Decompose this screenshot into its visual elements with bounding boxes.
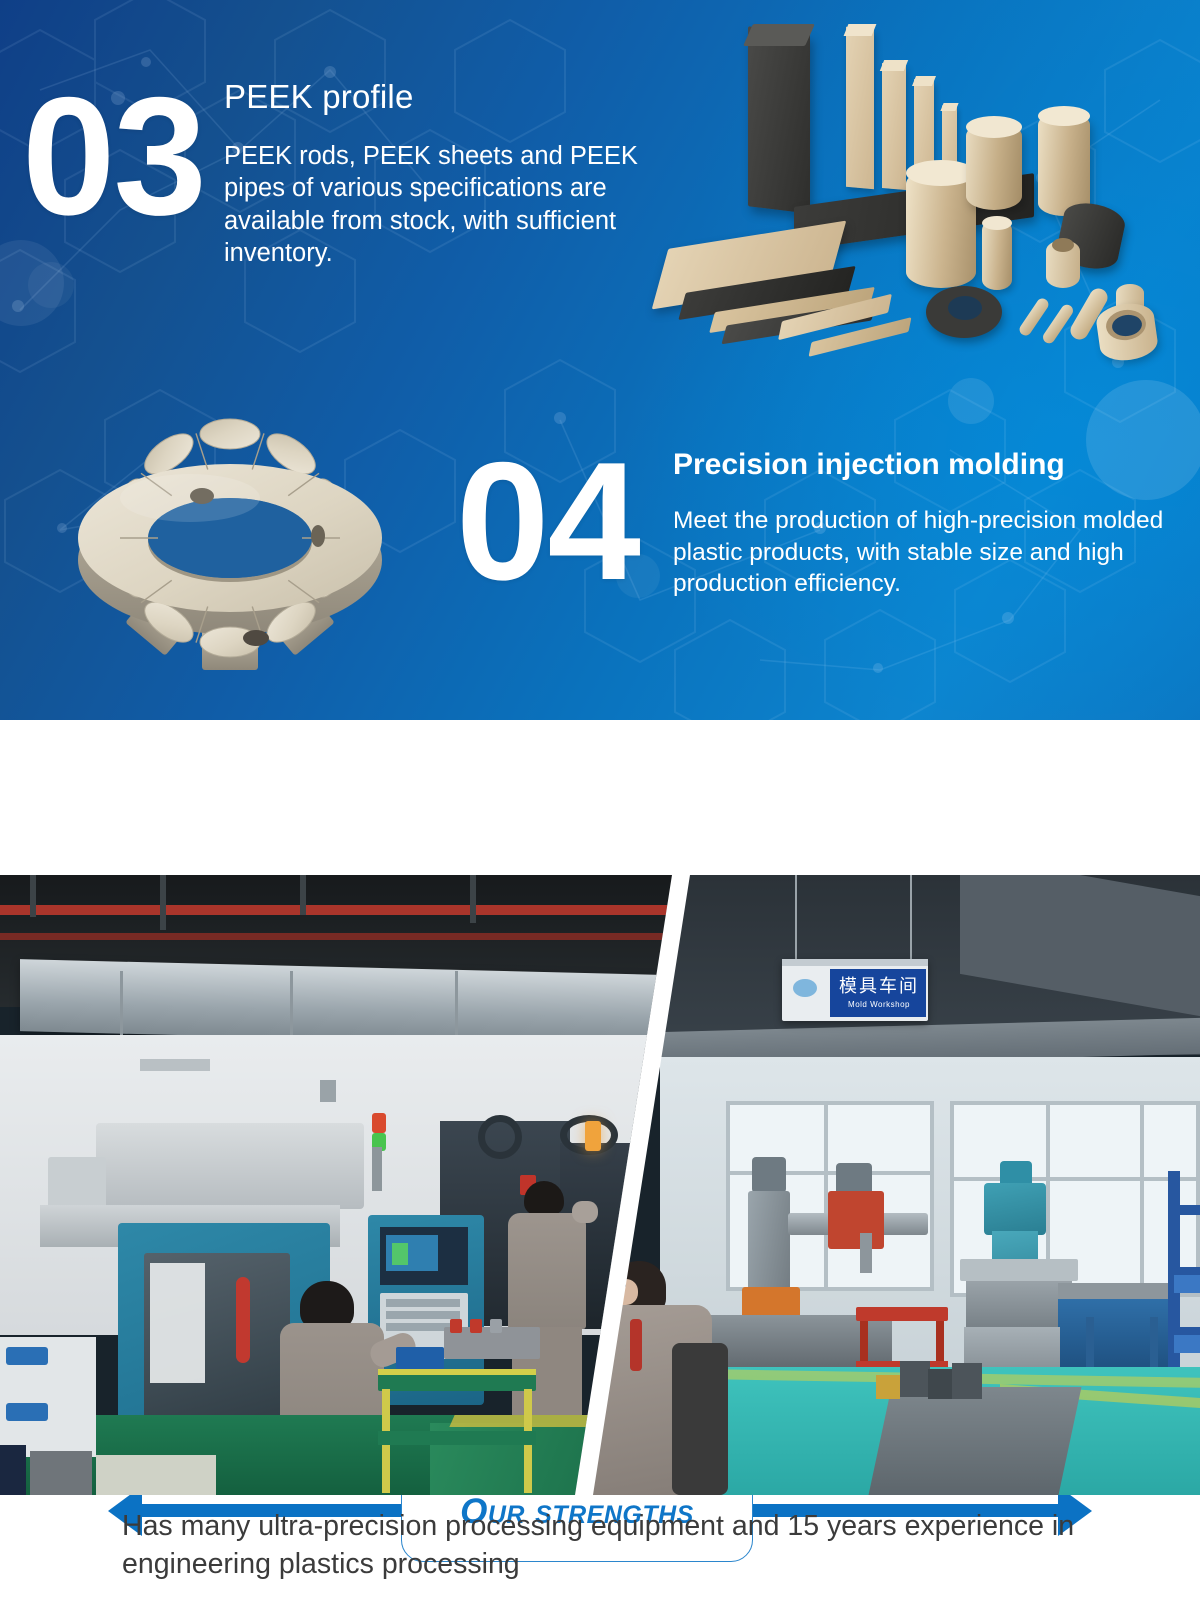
- block-number-03: 03: [22, 72, 205, 240]
- block-number-04: 04: [456, 437, 639, 605]
- block-title-03: PEEK profile: [224, 78, 414, 116]
- block-title-04: Precision injection molding: [673, 448, 1065, 482]
- block-body-04: Meet the production of high-precision mo…: [673, 505, 1200, 600]
- photo-divider: [0, 875, 1200, 1495]
- peek-gear-ring-photo: [28, 398, 432, 690]
- strengths-banner: Our strengths: [0, 720, 1200, 875]
- block-body-03: PEEK rods, PEEK sheets and PEEK pipes of…: [224, 140, 656, 270]
- decorative-blob: [28, 262, 74, 308]
- page-caption: Has many ultra-precision processing equi…: [122, 1507, 1122, 1584]
- peek-stock-shapes-photo: [660, 8, 1200, 368]
- hero-panel: 03 PEEK profile PEEK rods, PEEK sheets a…: [0, 0, 1200, 720]
- factory-photo-band: 模具车间 Mold Workshop: [0, 875, 1200, 1495]
- decorative-blob: [948, 378, 994, 424]
- decorative-blob: [1086, 380, 1200, 500]
